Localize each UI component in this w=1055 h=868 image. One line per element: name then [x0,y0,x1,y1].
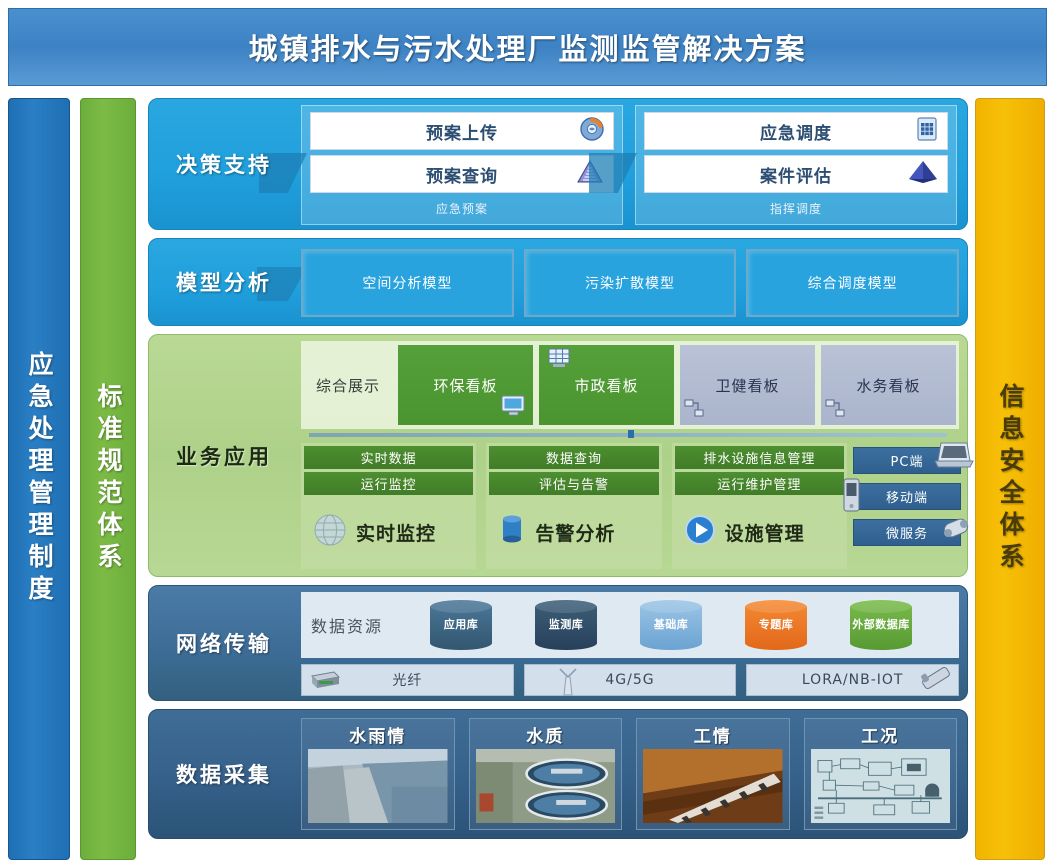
buried-pipeline-photo [643,749,783,823]
play-circle-icon [681,511,719,553]
window-grid-icon [547,347,571,373]
pillar-standards-system-label: 标准规范体系 [90,383,126,575]
decision-item-case-assessment-label: 案件评估 [760,162,832,187]
business-column-monitoring: 实时数据 运行监控 实时监控 [301,443,476,569]
database-monitoring-label: 监测库 [535,600,597,650]
decision-item-plan-query-label: 预案查询 [426,162,498,187]
endpoint-mobile[interactable]: 移动端 [853,483,961,510]
handset-icon [938,515,974,551]
mobile-phone-icon [838,476,864,518]
decision-group-emergency-plan-footer: 应急预案 [302,198,622,217]
decision-item-plan-upload-label: 预案上传 [426,119,498,144]
layer-business-application: 业务应用 综合展示 环保看板 市政看板 [148,334,968,577]
endpoint-pc[interactable]: PC端 [853,447,961,474]
grid-table-icon [915,116,939,146]
page-title-banner: 城镇排水与污水处理厂监测监管解决方案 [8,8,1047,86]
layer-model-analysis: 模型分析 空间分析模型 污染扩散模型 综合调度模型 [148,238,968,326]
business-chip-assessment-alarm[interactable]: 评估与告警 [489,472,658,495]
kanban-municipal-label: 市政看板 [574,375,638,396]
database-application[interactable]: 应用库 [430,600,492,650]
decision-item-emergency-dispatch[interactable]: 应急调度 [644,112,948,150]
business-chip-drainage-facility-info[interactable]: 排水设施信息管理 [675,446,844,469]
process-schematic-photo [811,749,951,823]
antenna-tower-icon [555,665,581,701]
fiber-switch-icon [308,668,342,696]
cylinder-icon [495,510,529,554]
layer-business-application-label: 业务应用 [149,335,299,576]
kanban-municipal[interactable]: 市政看板 [539,345,674,425]
model-box-spatial[interactable]: 空间分析模型 [301,249,514,317]
pillar-information-security: 信息安全体系 [975,98,1045,860]
pillar-emergency-management: 应急处理管理制度 [8,98,70,860]
business-chip-data-query[interactable]: 数据查询 [489,446,658,469]
database-external-label: 外部数据库 [850,600,912,650]
globe-icon [310,510,350,554]
database-topic-label: 专题库 [745,600,807,650]
overview-caption: 综合展示 [301,341,395,429]
business-chip-operation-maintenance[interactable]: 运行维护管理 [675,472,844,495]
network-link-lora[interactable]: LORA/NB-IOT [746,664,959,696]
layer-decision-support-label: 决策支持 [149,99,299,229]
client-endpoints: PC端 移动端 [853,447,961,555]
model-box-dispatch-label: 综合调度模型 [808,273,898,293]
kanban-health-label: 卫健看板 [715,375,779,396]
endpoint-mobile-label: 移动端 [886,487,928,506]
recycle-circle-icon [579,116,605,146]
business-feature-realtime-monitoring-label: 实时监控 [356,519,436,546]
decision-item-emergency-dispatch-label: 应急调度 [760,119,832,144]
kanban-health[interactable]: 卫健看板 [680,345,815,425]
business-feature-realtime-monitoring[interactable]: 实时监控 [304,498,473,566]
decision-item-plan-upload[interactable]: 预案上传 [310,112,614,150]
river-embankment-photo [308,749,448,823]
network-link-fiber[interactable]: 光纤 [301,664,514,696]
database-external[interactable]: 外部数据库 [850,600,912,650]
data-card-water-quality-label: 水质 [470,719,622,749]
kanban-water-affairs-label: 水务看板 [856,375,920,396]
page-title: 城镇排水与污水处理厂监测监管解决方案 [248,26,806,68]
decision-group-command-dispatch-footer: 指挥调度 [636,198,956,217]
pillar-standards-system: 标准规范体系 [80,98,136,860]
network-link-lora-label: LORA/NB-IOT [802,672,904,688]
decision-item-plan-query[interactable]: 预案查询 [310,155,614,193]
data-card-water-quality[interactable]: 水质 [469,718,623,830]
data-card-works[interactable]: 工情 [636,718,790,830]
business-chip-realtime-data[interactable]: 实时数据 [304,446,473,469]
laptop-icon [932,439,974,477]
flow-arrow-icon [589,153,637,193]
business-chip-operation-monitor[interactable]: 运行监控 [304,472,473,495]
business-column-facility: 排水设施信息管理 运行维护管理 设施管理 [672,443,847,569]
monitor-icon [501,395,527,421]
database-monitoring[interactable]: 监测库 [535,600,597,650]
model-box-pollution-label: 污染扩散模型 [585,273,675,293]
decision-group-command-dispatch: 应急调度 [635,105,957,225]
network-link-cellular[interactable]: 4G/5G [524,664,737,696]
network-link-fiber-label: 光纤 [392,670,422,690]
business-feature-facility-management-label: 设施管理 [725,519,805,546]
pillar-information-security-label: 信息安全体系 [992,383,1028,575]
business-feature-facility-management[interactable]: 设施管理 [675,498,844,566]
endpoint-microservice[interactable]: 微服务 [853,519,961,546]
layer-data-collection: 数据采集 水雨情 [148,709,968,839]
layer-stack: 决策支持 预案上传 [148,98,968,839]
data-resources-label: 数据资源 [311,613,383,637]
overview-panel: 综合展示 环保看板 市政看板 [301,341,959,429]
data-card-hydrology-label: 水雨情 [302,719,454,749]
endpoint-microservice-label: 微服务 [886,523,928,542]
sensor-device-icon [916,662,956,700]
data-card-works-label: 工情 [637,719,789,749]
database-topic[interactable]: 专题库 [745,600,807,650]
model-box-pollution[interactable]: 污染扩散模型 [524,249,737,317]
business-column-query: 数据查询 评估与告警 告警分析 [486,443,661,569]
data-card-hydrology[interactable]: 水雨情 [301,718,455,830]
pillar-emergency-management-label: 应急处理管理制度 [21,351,57,607]
architecture-diagram: 城镇排水与污水处理厂监测监管解决方案 应急处理管理制度 标准规范体系 信息安全体… [0,0,1055,868]
model-box-spatial-label: 空间分析模型 [362,273,452,293]
layer-data-collection-label: 数据采集 [149,710,299,838]
section-divider [309,433,947,437]
network-link-cellular-label: 4G/5G [605,672,654,688]
network-node-icon [825,399,845,421]
kanban-environment-label: 环保看板 [433,375,497,396]
database-base[interactable]: 基础库 [640,600,702,650]
model-box-dispatch[interactable]: 综合调度模型 [746,249,959,317]
database-application-label: 应用库 [430,600,492,650]
data-card-operating-condition-label: 工况 [805,719,957,749]
sedimentation-tanks-photo [476,749,616,823]
data-card-operating-condition[interactable]: 工况 [804,718,958,830]
network-node-icon [684,399,704,421]
layer-network-transmission: 网络传输 数据资源 应用库 监测库 基础库 [148,585,968,701]
solid-pyramid-icon [907,159,939,189]
layer-network-transmission-label: 网络传输 [149,586,299,700]
decision-item-case-assessment[interactable]: 案件评估 [644,155,948,193]
layer-decision-support: 决策支持 预案上传 [148,98,968,230]
kanban-environment[interactable]: 环保看板 [398,345,533,425]
business-feature-alarm-analysis[interactable]: 告警分析 [489,498,658,566]
endpoint-pc-label: PC端 [891,451,924,470]
kanban-water-affairs[interactable]: 水务看板 [821,345,956,425]
data-resources-panel: 数据资源 应用库 监测库 基础库 [301,592,959,658]
layer-model-analysis-label: 模型分析 [149,239,299,325]
decision-group-emergency-plan: 预案上传 预案查询 [301,105,623,225]
database-base-label: 基础库 [640,600,702,650]
business-feature-alarm-analysis-label: 告警分析 [535,519,615,546]
